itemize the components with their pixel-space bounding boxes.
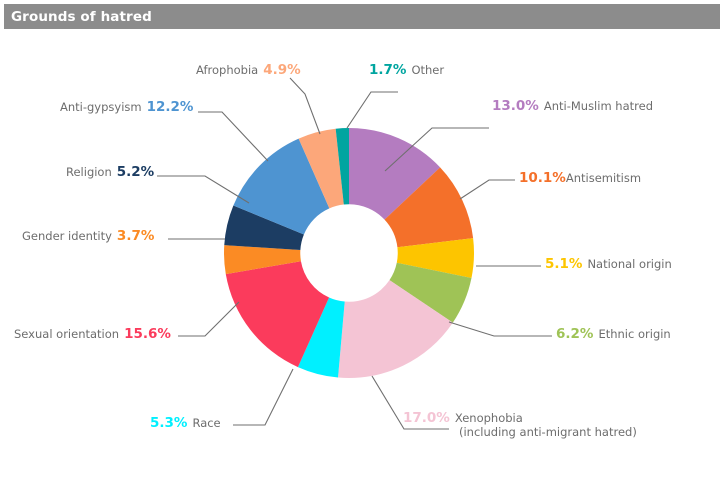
label-name-other: Other	[411, 63, 444, 77]
label-other: 1.7%Other	[369, 63, 444, 77]
label-name-antisemitism: Antisemitism	[566, 171, 641, 185]
label-race: 5.3%Race	[150, 416, 221, 430]
label-name-anti-gypsyism: Anti-gypsyism	[60, 100, 142, 114]
label-name-race: Race	[192, 416, 220, 430]
leader-line-anti-gypsyism	[198, 112, 268, 161]
label-gender-identity: Gender identity3.7%	[22, 229, 154, 243]
label-antisemitism: 10.1%Antisemitism	[519, 171, 641, 185]
leader-line-antisemitism	[460, 180, 515, 199]
label-sexual-orientation: Sexual orientation15.6%	[14, 327, 171, 341]
label-name-gender-identity: Gender identity	[22, 229, 112, 243]
label-pct-anti-gypsyism: 12.2%	[147, 99, 194, 115]
label-anti-gypsyism: Anti-gypsyism12.2%	[60, 100, 193, 114]
label-pct-national-origin: 5.1%	[545, 256, 582, 272]
label-anti-muslim-hatred: 13.0%Anti-Muslim hatred	[492, 99, 653, 113]
label-religion: Religion5.2%	[66, 165, 154, 179]
label-name-anti-muslim-hatred: Anti-Muslim hatred	[544, 99, 653, 113]
chart-container: Grounds of hatred	[0, 0, 728, 490]
leader-line-religion	[157, 176, 249, 203]
leader-line-sexual-orientation	[178, 302, 239, 336]
label-national-origin: 5.1%National origin	[545, 257, 672, 271]
label-xenophobia: 17.0%Xenophobia (including anti-migrant …	[403, 411, 637, 439]
donut-slices	[224, 128, 474, 378]
label-pct-gender-identity: 3.7%	[117, 228, 154, 244]
label-pct-xenophobia: 17.0%	[403, 410, 450, 426]
label-pct-religion: 5.2%	[117, 164, 154, 180]
label-name-national-origin: National origin	[587, 257, 671, 271]
label-name-religion: Religion	[66, 165, 112, 179]
label-ethnic-origin: 6.2%Ethnic origin	[556, 327, 671, 341]
label-afrophobia: Afrophobia4.9%	[196, 63, 301, 77]
leader-line-race	[233, 369, 293, 425]
label-pct-race: 5.3%	[150, 415, 187, 431]
label-pct-other: 1.7%	[369, 62, 406, 78]
label-pct-sexual-orientation: 15.6%	[124, 326, 171, 342]
label-name-afrophobia: Afrophobia	[196, 63, 258, 77]
label-pct-antisemitism: 10.1%	[519, 170, 566, 186]
label-pct-afrophobia: 4.9%	[263, 62, 300, 78]
leader-line-other	[347, 92, 398, 128]
label-pct-ethnic-origin: 6.2%	[556, 326, 593, 342]
leader-line-ethnic-origin	[449, 322, 552, 336]
label-name-sexual-orientation: Sexual orientation	[14, 327, 119, 341]
leader-line-afrophobia	[290, 78, 320, 134]
label-name-ethnic-origin: Ethnic origin	[598, 327, 670, 341]
label-name2-xenophobia: (including anti-migrant hatred)	[459, 425, 637, 439]
label-pct-anti-muslim-hatred: 13.0%	[492, 98, 539, 114]
label-name-xenophobia: Xenophobia	[455, 411, 523, 425]
